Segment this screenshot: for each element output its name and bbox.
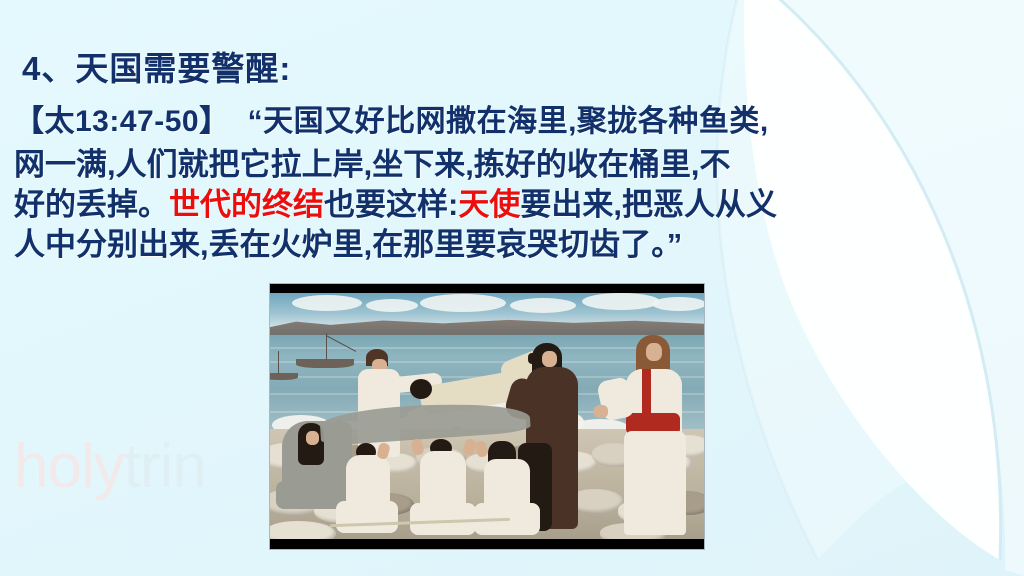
page-title: 4、天国需要警醒: (22, 42, 291, 90)
cloud-shape (652, 297, 704, 311)
photo-content (270, 293, 704, 539)
verse-line-1-text: “天国又好比网撒在海里,聚拢各种鱼类, (248, 105, 769, 138)
verse-line-2: 网一满,人们就把它拉上岸,坐下来,拣好的收在桶里,不 (14, 144, 1014, 185)
watermark-part-holy: holy (14, 432, 124, 501)
highlight-angels: 天使 (458, 187, 520, 222)
cloud-shape (292, 295, 362, 311)
figure-christ-lower-robe (624, 431, 686, 535)
figure-carried-head (410, 379, 432, 399)
figure-seated-1-lap (336, 501, 398, 533)
highlight-end-of-age: 世代的终结 (169, 187, 324, 222)
boat-mast (278, 351, 279, 374)
verse-line-3-part-b: 也要这样: (324, 187, 458, 222)
figure-christ-face (646, 343, 662, 361)
fishing-boat (270, 373, 298, 380)
verse-line-3-part-c: 要出来,把恶人从义 (520, 187, 777, 222)
watermark-holytrinity: holytrin (14, 436, 206, 498)
verse-line-1: 【太13:47-50】“天国又好比网撒在海里,聚拢各种鱼类, (14, 100, 1014, 144)
cloud-shape (582, 293, 660, 310)
shoreline-scene-photo (270, 284, 704, 549)
cloud-shape (366, 299, 418, 312)
cloud-shape (510, 298, 576, 313)
figure-christ-hand (594, 405, 608, 418)
slide-canvas: holytrin 4、天国需要警醒: 【太13:47-50】“天国又好比网撒在海… (0, 0, 1024, 576)
watermark-part-trin: trin (124, 432, 206, 501)
verse-line-3: 好的丢掉。世代的终结也要这样:天使要出来,把恶人从义 (14, 185, 1014, 225)
shore-rock (570, 489, 624, 513)
fishing-boat (296, 359, 354, 368)
scripture-reference: 【太13:47-50】 (14, 105, 230, 138)
petal-swoosh-icon (712, 0, 1024, 576)
scripture-text-block: 【太13:47-50】“天国又好比网撒在海里,聚拢各种鱼类, 网一满,人们就把它… (14, 100, 1014, 265)
verse-line-3-part-a: 好的丢掉。 (14, 187, 169, 222)
cloud-shape (420, 294, 506, 312)
boat-mast (326, 333, 327, 360)
figure-seated-left-face (306, 431, 319, 445)
verse-line-4: 人中分别出来,丢在火炉里,在那里要哀哭切齿了。” (14, 225, 1014, 265)
figure-brown-robe-face (542, 351, 557, 367)
